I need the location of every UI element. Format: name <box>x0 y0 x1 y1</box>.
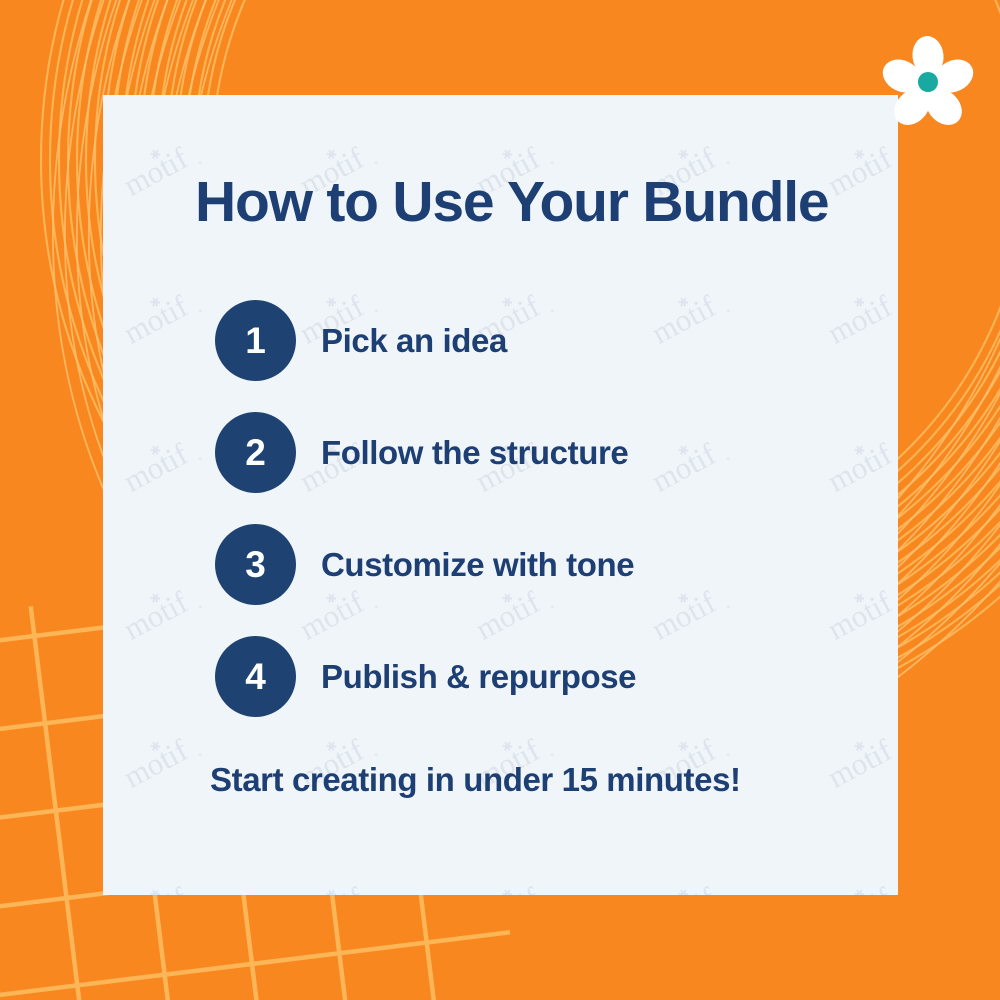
poster-canvas: motif ✱ . How to Use Your Bundle 1 Pick … <box>0 0 1000 1000</box>
step-label-3: Customize with tone <box>321 546 634 584</box>
steps-list: 1 Pick an idea 2 Follow the structure 3 … <box>215 285 898 733</box>
step-badge-4: 4 <box>215 636 296 717</box>
step-row-1: 1 Pick an idea <box>215 285 898 397</box>
page-title: How to Use Your Bundle <box>195 173 898 233</box>
step-label-2: Follow the structure <box>321 434 628 472</box>
step-badge-3: 3 <box>215 524 296 605</box>
step-row-3: 3 Customize with tone <box>215 509 898 621</box>
step-badge-1: 1 <box>215 300 296 381</box>
flower-icon <box>878 33 978 133</box>
card-inner: How to Use Your Bundle 1 Pick an idea 2 … <box>103 95 898 895</box>
step-badge-2: 2 <box>215 412 296 493</box>
flower-center <box>918 72 938 92</box>
step-row-2: 2 Follow the structure <box>215 397 898 509</box>
content-card: motif ✱ . How to Use Your Bundle 1 Pick … <box>103 95 898 895</box>
step-label-1: Pick an idea <box>321 322 507 360</box>
tagline: Start creating in under 15 minutes! <box>210 761 898 799</box>
step-row-4: 4 Publish & repurpose <box>215 621 898 733</box>
step-label-4: Publish & repurpose <box>321 658 636 696</box>
